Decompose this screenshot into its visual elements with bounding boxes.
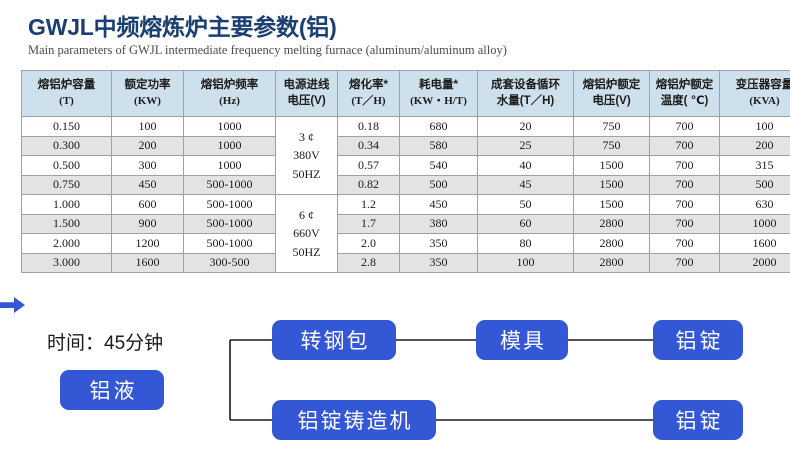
table-row: 0.750450500-10000.82500451500700500 xyxy=(22,175,790,195)
column-header-rated-voltage-unit: 电压(V) xyxy=(592,95,630,107)
cell-transformer: 200 xyxy=(720,136,790,156)
cell-rated-voltage: 2800 xyxy=(574,214,650,234)
cell-melt-rate: 0.57 xyxy=(338,156,400,176)
cell-transformer: 630 xyxy=(720,195,790,215)
column-header-supply-voltage-name: 电源进线 xyxy=(284,79,330,91)
spec-table-wrapper: 熔铝炉容量 (T) 额定功率 (KW) 熔铝炉频率 (Hz) 电源进线 电压(V… xyxy=(21,70,769,273)
column-header-capacity-name: 熔铝炉容量 xyxy=(38,79,96,91)
cell-transformer: 2000 xyxy=(720,253,790,273)
cell-water: 25 xyxy=(478,136,574,156)
column-header-power: 额定功率 (KW) xyxy=(112,71,184,117)
cell-capacity: 1.000 xyxy=(22,195,112,215)
column-header-frequency-unit: (Hz) xyxy=(219,95,240,107)
cell-frequency: 500-1000 xyxy=(184,175,276,195)
table-row: 3.0001600300-5002.835010028007002000 xyxy=(22,253,790,273)
table-body: 0.15010010003 ¢380V50HZ0.186802075070010… xyxy=(22,117,790,273)
cell-power: 1200 xyxy=(112,234,184,254)
cell-transformer: 500 xyxy=(720,175,790,195)
spec-table: 熔铝炉容量 (T) 额定功率 (KW) 熔铝炉频率 (Hz) 电源进线 电压(V… xyxy=(21,70,790,273)
cell-transformer: 315 xyxy=(720,156,790,176)
column-header-melt-rate-unit: (T／H) xyxy=(351,95,385,107)
heading-block: GWJL中频熔炼炉主要参数(铝) Main parameters of GWJL… xyxy=(28,14,507,58)
cell-capacity: 3.000 xyxy=(22,253,112,273)
column-header-consumption-name: 耗电量* xyxy=(419,79,458,91)
cell-melt-rate: 1.2 xyxy=(338,195,400,215)
cell-frequency: 500-1000 xyxy=(184,214,276,234)
cell-water: 40 xyxy=(478,156,574,176)
cell-rated-voltage: 750 xyxy=(574,136,650,156)
cell-melt-rate: 0.34 xyxy=(338,136,400,156)
cell-rated-voltage: 2800 xyxy=(574,253,650,273)
cell-water: 60 xyxy=(478,214,574,234)
cell-rated-temp: 700 xyxy=(650,253,720,273)
cell-transformer: 100 xyxy=(720,117,790,137)
column-header-water-name: 成套设备循环 xyxy=(491,79,560,91)
table-row: 1.500900500-10001.73806028007001000 xyxy=(22,214,790,234)
column-header-melt-rate-name: 熔化率* xyxy=(349,79,388,91)
supply-voltage-line: 3 ¢ xyxy=(276,128,337,147)
cell-melt-rate: 1.7 xyxy=(338,214,400,234)
cell-rated-temp: 700 xyxy=(650,195,720,215)
table-row: 0.30020010000.3458025750700200 xyxy=(22,136,790,156)
column-header-frequency: 熔铝炉频率 (Hz) xyxy=(184,71,276,117)
cell-rated-voltage: 1500 xyxy=(574,156,650,176)
cell-melt-rate: 0.18 xyxy=(338,117,400,137)
cell-water: 80 xyxy=(478,234,574,254)
cell-power: 200 xyxy=(112,136,184,156)
cell-frequency: 1000 xyxy=(184,156,276,176)
cell-power: 1600 xyxy=(112,253,184,273)
cell-capacity: 0.500 xyxy=(22,156,112,176)
cell-power: 100 xyxy=(112,117,184,137)
column-header-transformer: 变压器容量 (KVA) xyxy=(720,71,790,117)
cell-water: 50 xyxy=(478,195,574,215)
column-header-consumption: 耗电量* (KW・H/T) xyxy=(400,71,478,117)
cell-power: 450 xyxy=(112,175,184,195)
column-header-rated-temp-name: 熔铝炉额定 xyxy=(656,79,714,91)
cell-water: 20 xyxy=(478,117,574,137)
column-header-rated-temp: 熔铝炉额定 温度( ℃) xyxy=(650,71,720,117)
cell-melt-rate: 2.8 xyxy=(338,253,400,273)
cell-melt-rate: 2.0 xyxy=(338,234,400,254)
table-head: 熔铝炉容量 (T) 额定功率 (KW) 熔铝炉频率 (Hz) 电源进线 电压(V… xyxy=(22,71,790,117)
table-header-row: 熔铝炉容量 (T) 额定功率 (KW) 熔铝炉频率 (Hz) 电源进线 电压(V… xyxy=(22,71,790,117)
cell-supply-voltage: 6 ¢660V50HZ xyxy=(276,195,338,273)
cell-capacity: 0.750 xyxy=(22,175,112,195)
cell-consumption: 450 xyxy=(400,195,478,215)
cell-power: 600 xyxy=(112,195,184,215)
column-header-power-unit: (KW) xyxy=(134,95,161,107)
flow-node-ingot-top[interactable]: 铝锭 xyxy=(653,320,743,360)
supply-voltage-line: 660V xyxy=(276,224,337,243)
column-header-water-unit: 水量(T／H) xyxy=(497,95,555,107)
flow-node-casting-machine[interactable]: 铝锭铸造机 xyxy=(272,400,436,440)
cell-consumption: 680 xyxy=(400,117,478,137)
page-subtitle: Main parameters of GWJL intermediate fre… xyxy=(28,43,507,58)
cell-power: 300 xyxy=(112,156,184,176)
table-row: 0.15010010003 ¢380V50HZ0.186802075070010… xyxy=(22,117,790,137)
cell-transformer: 1600 xyxy=(720,234,790,254)
cell-rated-temp: 700 xyxy=(650,156,720,176)
flow-node-ladle[interactable]: 转钢包 xyxy=(272,320,396,360)
column-header-capacity-unit: (T) xyxy=(59,95,74,107)
cell-power: 900 xyxy=(112,214,184,234)
flow-node-mold[interactable]: 模具 xyxy=(476,320,568,360)
cell-consumption: 350 xyxy=(400,253,478,273)
cell-rated-voltage: 1500 xyxy=(574,175,650,195)
column-header-transformer-unit: (KVA) xyxy=(749,95,779,107)
column-header-capacity: 熔铝炉容量 (T) xyxy=(22,71,112,117)
supply-voltage-line: 6 ¢ xyxy=(276,206,337,225)
process-flow-diagram: 时间：45分钟 铝液 转钢包 模具 铝锭 铝锭铸造机 铝锭 xyxy=(0,296,790,474)
column-header-frequency-name: 熔铝炉频率 xyxy=(201,79,259,91)
cell-transformer: 1000 xyxy=(720,214,790,234)
cell-rated-voltage: 750 xyxy=(574,117,650,137)
table-row: 2.0001200500-10002.03508028007001600 xyxy=(22,234,790,254)
cell-rated-temp: 700 xyxy=(650,214,720,234)
column-header-rated-voltage: 熔铝炉额定 电压(V) xyxy=(574,71,650,117)
cell-rated-temp: 700 xyxy=(650,175,720,195)
supply-voltage-line: 380V xyxy=(276,146,337,165)
cell-rated-voltage: 1500 xyxy=(574,195,650,215)
table-row: 1.000600500-10006 ¢660V50HZ1.24505015007… xyxy=(22,195,790,215)
cell-rated-temp: 700 xyxy=(650,117,720,137)
column-header-water: 成套设备循环 水量(T／H) xyxy=(478,71,574,117)
cell-melt-rate: 0.82 xyxy=(338,175,400,195)
time-label: 时间：45分钟 xyxy=(47,328,163,355)
cell-water: 45 xyxy=(478,175,574,195)
cell-water: 100 xyxy=(478,253,574,273)
cell-supply-voltage: 3 ¢380V50HZ xyxy=(276,117,338,195)
cell-consumption: 380 xyxy=(400,214,478,234)
cell-rated-temp: 700 xyxy=(650,234,720,254)
cell-rated-temp: 700 xyxy=(650,136,720,156)
cell-frequency: 500-1000 xyxy=(184,195,276,215)
column-header-rated-temp-unit: 温度( ℃) xyxy=(661,95,709,107)
cell-consumption: 580 xyxy=(400,136,478,156)
cell-capacity: 0.300 xyxy=(22,136,112,156)
supply-voltage-line: 50HZ xyxy=(276,165,337,184)
cell-capacity: 2.000 xyxy=(22,234,112,254)
table-row: 0.50030010000.57540401500700315 xyxy=(22,156,790,176)
supply-voltage-line: 50HZ xyxy=(276,243,337,262)
page-title: GWJL中频熔炼炉主要参数(铝) xyxy=(28,14,507,40)
column-header-supply-voltage: 电源进线 电压(V) xyxy=(276,71,338,117)
column-header-power-name: 额定功率 xyxy=(125,79,171,91)
column-header-transformer-name: 变压器容量 xyxy=(736,79,790,91)
cell-frequency: 300-500 xyxy=(184,253,276,273)
flow-node-ingot-bottom[interactable]: 铝锭 xyxy=(653,400,743,440)
cell-capacity: 1.500 xyxy=(22,214,112,234)
cell-capacity: 0.150 xyxy=(22,117,112,137)
cell-consumption: 540 xyxy=(400,156,478,176)
column-header-supply-voltage-unit: 电压(V) xyxy=(287,95,325,107)
cell-consumption: 350 xyxy=(400,234,478,254)
cell-frequency: 500-1000 xyxy=(184,234,276,254)
cell-rated-voltage: 2800 xyxy=(574,234,650,254)
column-header-melt-rate: 熔化率* (T／H) xyxy=(338,71,400,117)
page-root: GWJL中频熔炼炉主要参数(铝) Main parameters of GWJL… xyxy=(0,0,790,474)
cell-frequency: 1000 xyxy=(184,136,276,156)
column-header-rated-voltage-name: 熔铝炉额定 xyxy=(583,79,641,91)
flow-node-source[interactable]: 铝液 xyxy=(60,370,164,410)
right-arrow-icon xyxy=(0,296,26,314)
cell-consumption: 500 xyxy=(400,175,478,195)
cell-frequency: 1000 xyxy=(184,117,276,137)
column-header-consumption-unit: (KW・H/T) xyxy=(410,95,467,107)
